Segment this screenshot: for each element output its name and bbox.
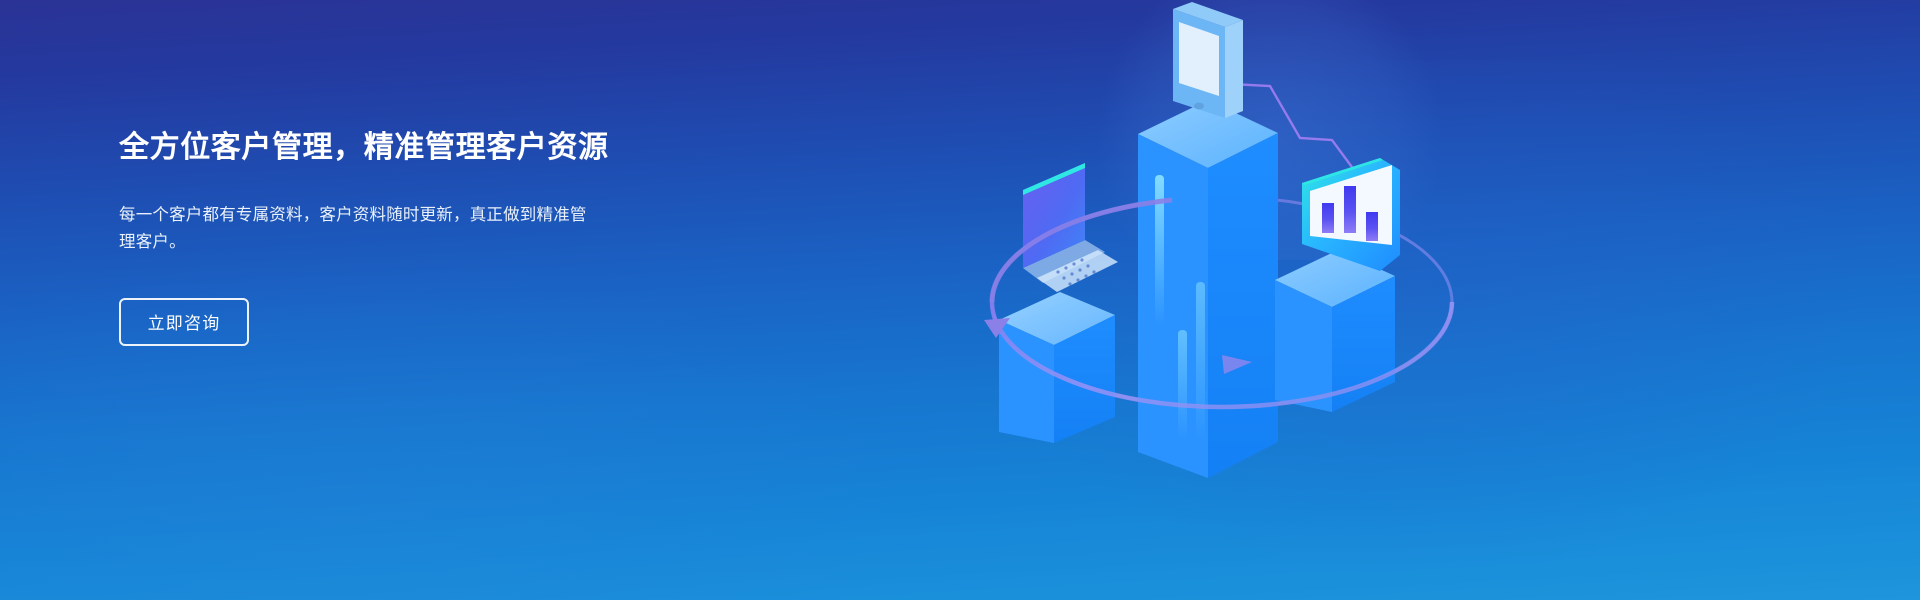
tablet-icon [1173, 2, 1243, 118]
monitor-chart-icon [1302, 158, 1400, 271]
page-title: 全方位客户管理，精准管理客户资源 [119, 128, 759, 168]
hero-copy-block: 全方位客户管理，精准管理客户资源 每一个客户都有专属资料，客户资料随时更新，真正… [119, 128, 759, 346]
laptop-icon [1023, 163, 1118, 292]
right-pillar-group [1275, 250, 1395, 412]
center-pillar-group [1138, 100, 1278, 478]
left-pillar-group [999, 292, 1115, 443]
hero-banner: 全方位客户管理，精准管理客户资源 每一个客户都有专属资料，客户资料随时更新，真正… [0, 0, 1920, 600]
consult-now-button[interactable]: 立即咨询 [119, 298, 249, 346]
hero-illustration [940, 0, 1500, 600]
hero-description: 每一个客户都有专属资料，客户资料随时更新，真正做到精准管理客户。 [119, 202, 601, 255]
